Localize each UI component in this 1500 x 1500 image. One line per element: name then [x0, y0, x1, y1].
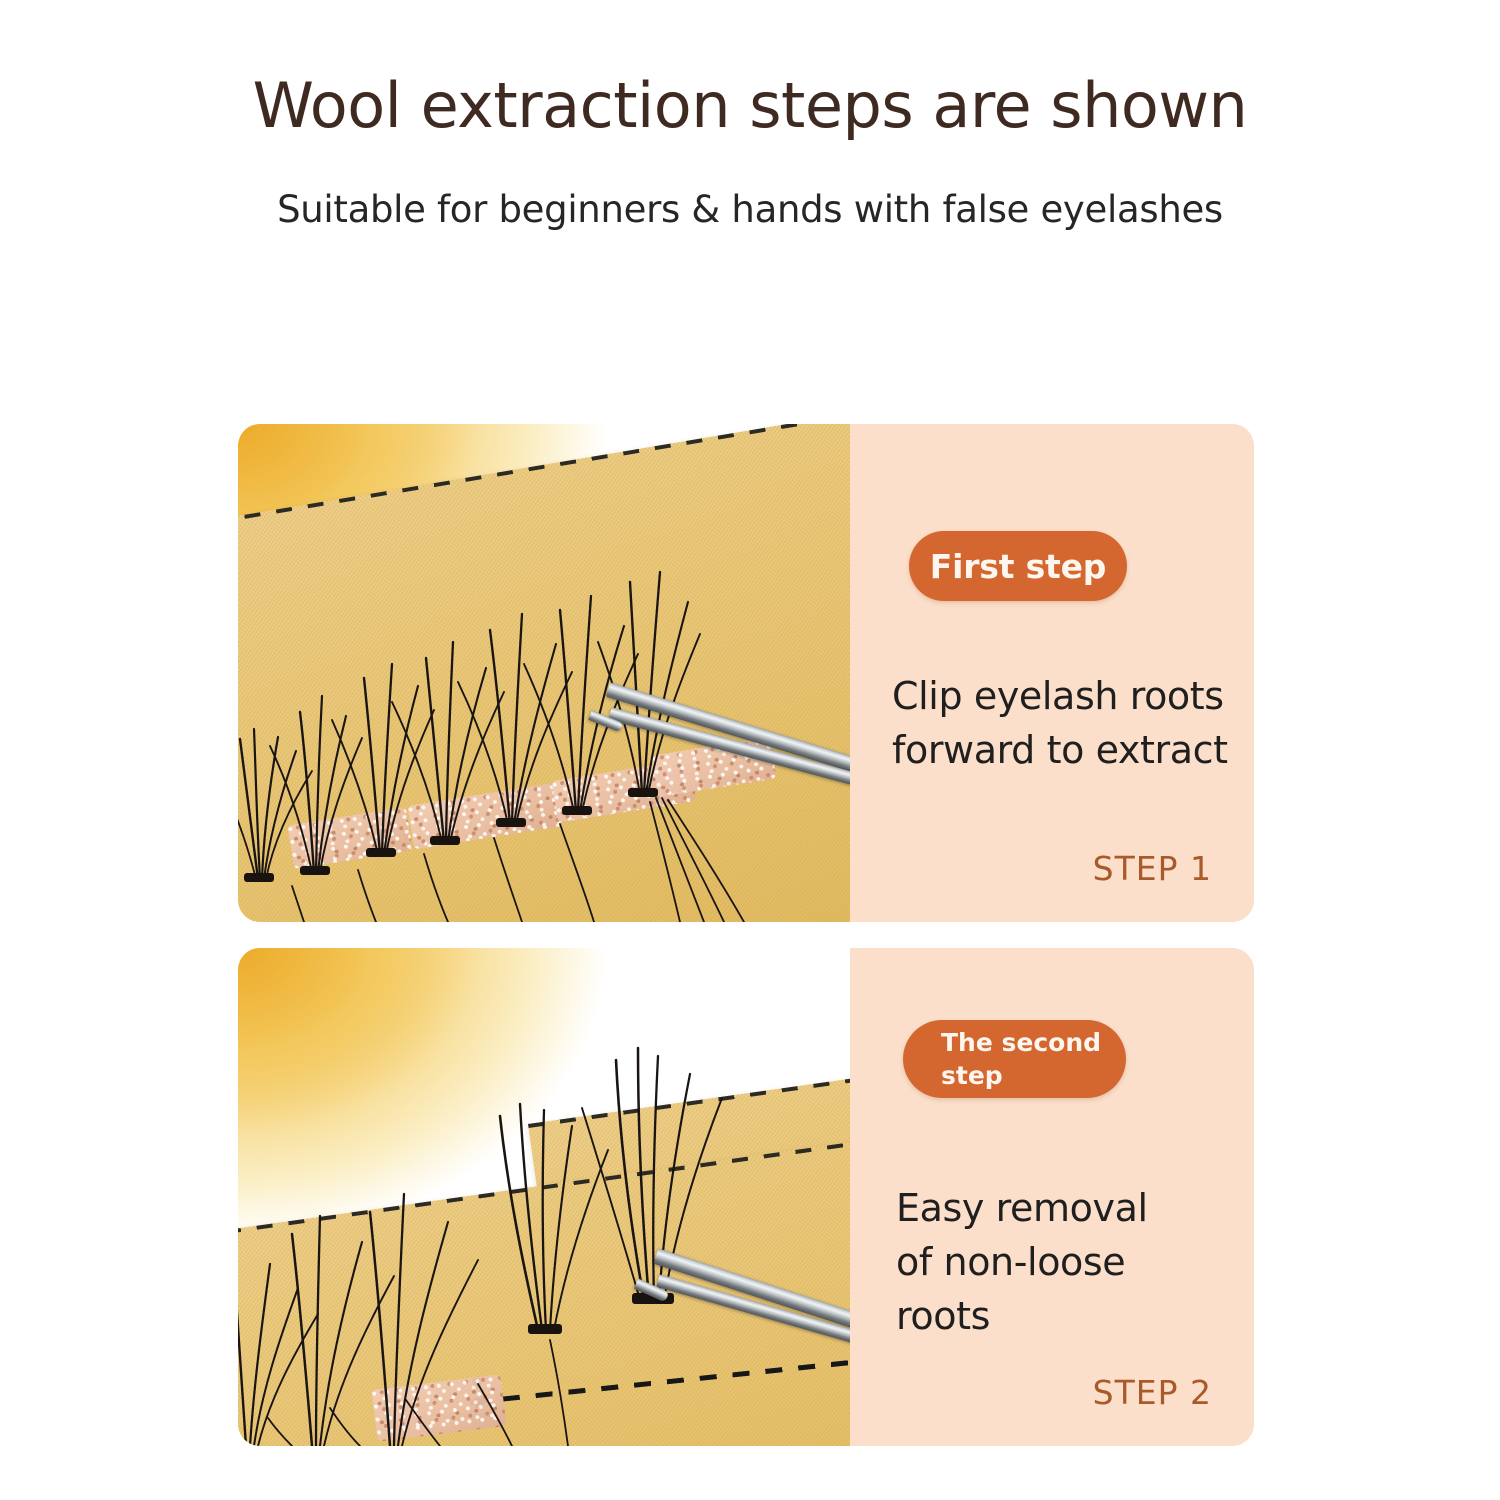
step-1-photo [238, 424, 850, 922]
step-1-badge: First step [909, 531, 1127, 601]
eyelash-clusters-illustration [238, 948, 850, 1446]
step-2-panel: The second step Easy removal of non-loos… [850, 948, 1254, 1446]
step-1-label: STEP 1 [1093, 849, 1212, 888]
step-2-badge: The second step [903, 1020, 1126, 1098]
step-2-description: Easy removal of non-loose roots [896, 1182, 1196, 1344]
step-card-2: The second step Easy removal of non-loos… [238, 948, 1254, 1446]
step-2-photo [238, 948, 850, 1446]
step-1-description: Clip eyelash roots forward to extract [892, 670, 1242, 778]
step-card-1: First step Clip eyelash roots forward to… [238, 424, 1254, 922]
step-2-label: STEP 2 [1093, 1373, 1212, 1412]
page-header: Wool extraction steps are shown Suitable… [0, 0, 1500, 231]
page-subtitle: Suitable for beginners & hands with fals… [0, 140, 1500, 231]
step-1-panel: First step Clip eyelash roots forward to… [850, 424, 1254, 922]
eyelash-clusters-illustration [238, 424, 850, 922]
page-title: Wool extraction steps are shown [0, 0, 1500, 140]
